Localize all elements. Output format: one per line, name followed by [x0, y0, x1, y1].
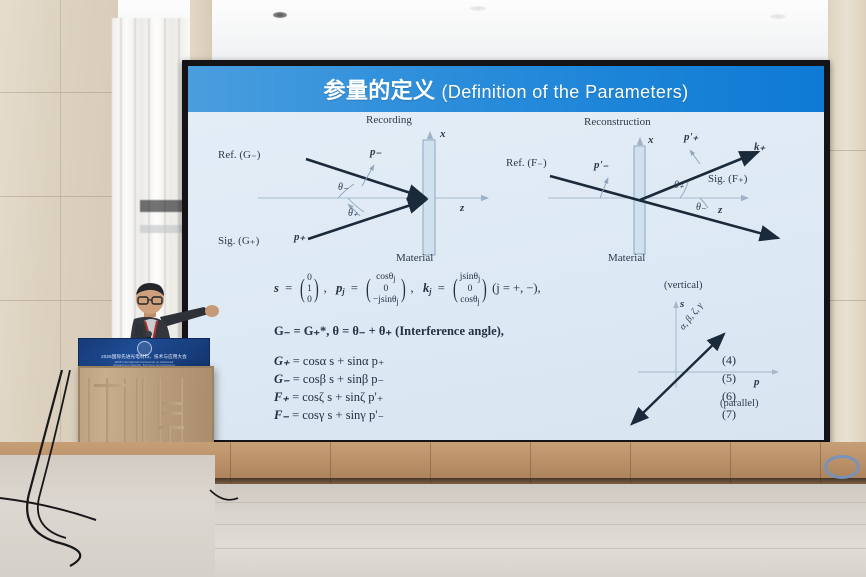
- ceiling-light-icon: [273, 12, 287, 18]
- recording-heading: Recording: [366, 114, 412, 126]
- equals-sign-3: =: [435, 281, 448, 295]
- equation-7-rhs: = cosγ s + sinγ p'₋: [292, 408, 384, 422]
- reconstruction-heading: Reconstruction: [584, 116, 651, 128]
- k-vector-sub: j: [429, 287, 431, 296]
- reconstruction-ref-label: Ref. (F₋): [506, 156, 547, 169]
- reconstruction-p-minus-prime: p'₋: [594, 158, 608, 171]
- polarization-s-axis: s: [680, 298, 684, 310]
- right-paren-icon: ): [482, 278, 487, 300]
- equation-5: G₋ = cosβ s + sinβ p₋ (5): [274, 371, 604, 387]
- cable-coil: [824, 455, 860, 479]
- reconstruction-k-plus: k₊: [754, 140, 765, 153]
- p-v1: cosθ: [376, 272, 393, 282]
- k-v3: cosθ: [460, 295, 477, 305]
- reconstruction-sig-label: Sig. (F₊): [708, 172, 747, 185]
- left-paren-icon: (: [453, 278, 458, 300]
- right-paren-icon: ): [401, 278, 406, 300]
- p-v2: 0: [383, 284, 388, 294]
- left-paren-icon: (: [366, 278, 371, 300]
- equation-5-lhs: G₋: [274, 372, 290, 386]
- equals-sign: =: [282, 281, 295, 295]
- reconstruction-axis-x: x: [648, 134, 654, 146]
- conference-room-scene: 参量的定义 (Definition of the Parameters): [0, 0, 866, 577]
- equation-4-lhs: G₊: [274, 354, 290, 368]
- equation-4: G₊ = cosα s + sinα p₊ (4): [274, 353, 604, 369]
- slide-title-english: (Definition of the Parameters): [441, 82, 688, 102]
- right-paren-icon: ): [314, 278, 319, 300]
- diagram-svg: [188, 112, 824, 277]
- polarization-parallel-label: (parallel): [720, 398, 758, 409]
- presentation-slide: 参量的定义 (Definition of the Parameters): [188, 66, 824, 440]
- conjugate-relation: G₋ = G₊*, θ = θ₋ + θ₊ (Interference angl…: [274, 323, 604, 339]
- equation-block: s = ( 0 1 0 ) , pj = ( cosθj 0: [274, 272, 604, 423]
- comma-2: ,: [411, 281, 420, 295]
- reconstruction-material-label: Material: [608, 252, 645, 264]
- reconstruction-theta-plus: θ₊: [674, 180, 684, 191]
- k-vector-values: jsinθj 0 cosθj: [460, 272, 481, 307]
- slide-title-chinese: 参量的定义: [323, 78, 435, 103]
- polarization-vertical-label: (vertical): [664, 280, 702, 291]
- comma-1: ,: [324, 281, 333, 295]
- s-vector-values: 0 1 0: [307, 273, 312, 305]
- recording-theta-minus: θ₋: [338, 182, 348, 193]
- optical-diagrams: Recording x z Ref. (G₋) Sig. (G₊) p₋ p₊ …: [188, 112, 824, 272]
- polarization-p-axis: p: [754, 376, 760, 388]
- reconstruction-theta-minus: θ₋: [696, 202, 706, 213]
- equation-6: F₊ = cosζ s + sinζ p'₊ (6): [274, 389, 604, 405]
- equation-4-rhs: = cosα s + sinα p₊: [293, 354, 385, 368]
- k-v1: jsinθ: [460, 272, 478, 282]
- s-v1: 0: [307, 273, 312, 283]
- s-vector-label: s: [274, 281, 279, 295]
- j-note: (j = +, −),: [492, 281, 541, 295]
- projection-screen[interactable]: 参量的定义 (Definition of the Parameters): [188, 66, 824, 440]
- polarization-diagram: (vertical) s p α, β, ζ, γ (parallel): [628, 280, 818, 430]
- p-vector-sub: j: [342, 287, 344, 296]
- equation-5-rhs: = cosβ s + sinβ p₋: [293, 372, 384, 386]
- s-v2: 1: [307, 284, 312, 294]
- right-wall-panel: [828, 0, 866, 470]
- slide-body: Recording x z Ref. (G₋) Sig. (G₊) p₋ p₊ …: [188, 112, 824, 440]
- equation-7: F₋ = cosγ s + sinγ p'₋ (7): [274, 407, 604, 423]
- recording-theta-plus: θ₊: [348, 208, 358, 219]
- s-v3: 0: [307, 295, 312, 305]
- reconstruction-axis-z: z: [718, 204, 722, 216]
- recording-material-label: Material: [396, 252, 433, 264]
- ceiling-vent-icon: [470, 6, 486, 11]
- recording-sig-label: Sig. (G₊): [218, 234, 259, 247]
- p-vector-values: cosθj 0 −jsinθj: [373, 272, 399, 307]
- left-paren-icon: (: [300, 278, 305, 300]
- equation-6-rhs: = cosζ s + sinζ p'₊: [292, 390, 383, 404]
- equals-sign-2: =: [348, 281, 361, 295]
- recording-axis-x: x: [440, 128, 446, 140]
- recording-ref-label: Ref. (G₋): [218, 148, 260, 161]
- vector-definitions: s = ( 0 1 0 ) , pj = ( cosθj 0: [274, 272, 604, 307]
- reconstruction-p-plus-prime: p'₊: [684, 130, 698, 143]
- k-v2: 0: [468, 284, 473, 294]
- floor-cables: [0, 370, 240, 577]
- equation-7-lhs: F₋: [274, 408, 289, 422]
- recording-p-minus: p₋: [370, 145, 381, 158]
- slide-title: 参量的定义 (Definition of the Parameters): [323, 73, 688, 105]
- p-v3: −jsinθ: [373, 295, 397, 305]
- equation-6-lhs: F₊: [274, 390, 289, 404]
- ceiling-vent-icon: [770, 14, 786, 19]
- slide-title-bar: 参量的定义 (Definition of the Parameters): [188, 66, 824, 112]
- recording-p-plus: p₊: [294, 230, 305, 243]
- recording-axis-z: z: [460, 202, 464, 214]
